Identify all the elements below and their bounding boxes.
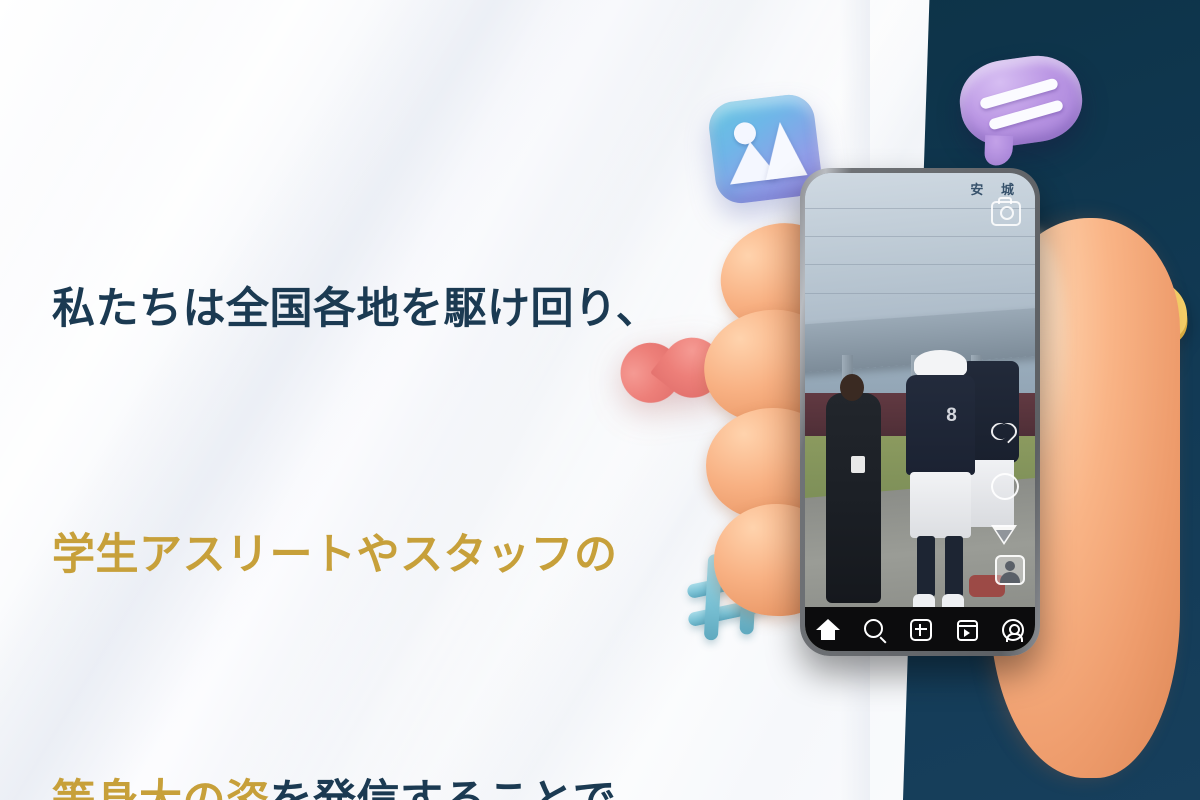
player-shirt [906, 375, 975, 475]
player-sock [917, 536, 935, 597]
headline-segment: を発信することで、 [270, 776, 659, 800]
like-heart-icon [991, 421, 1017, 445]
poster-canvas: 私たちは全国各地を駆け回り、 学生アスリートやスタッフの 等身大の姿を発信するこ… [0, 0, 1200, 800]
smartphone-mockup: 安 城 8 [800, 168, 1040, 656]
headline-segment: 私たちは全国各地を駆け回り、 [52, 284, 659, 334]
phone-screen[interactable]: 安 城 8 [805, 173, 1035, 651]
photo-icon-mountain-large [759, 119, 808, 180]
reels-icon [957, 620, 978, 641]
headline-segment: 学生アスリートやスタッフの [52, 530, 618, 580]
headline-line-3: 等身大の姿を発信することで、 [52, 760, 752, 800]
player-sock [945, 536, 963, 597]
plus-square-icon [910, 619, 932, 641]
instagram-bottom-nav [805, 607, 1035, 651]
headline-copy: 私たちは全国各地を駆け回り、 学生アスリートやスタッフの 等身大の姿を発信するこ… [52, 104, 752, 800]
staff-head [840, 374, 864, 401]
comment-button[interactable] [991, 473, 1021, 503]
home-icon [816, 619, 840, 630]
camera-icon[interactable] [991, 201, 1021, 226]
tagged-avatar[interactable] [995, 555, 1025, 585]
nav-profile[interactable] [1000, 617, 1024, 641]
venue-sign-text: 安 城 [970, 179, 1021, 198]
player-pants [910, 472, 971, 539]
nav-reels[interactable] [954, 617, 978, 641]
headline-segment: 等身大の姿 [52, 776, 270, 800]
send-icon [991, 525, 1017, 545]
nav-create[interactable] [908, 617, 932, 641]
staff-id-badge [851, 456, 865, 473]
comment-icon [991, 473, 1019, 500]
profile-icon [1002, 619, 1024, 641]
story-action-rail [991, 421, 1025, 577]
player-jersey-number: 8 [946, 405, 957, 427]
headline-line-1: 私たちは全国各地を駆け回り、 [52, 268, 752, 350]
headline-line-2: 学生アスリートやスタッフの [52, 514, 752, 596]
share-button[interactable] [991, 525, 1021, 555]
player-cap [914, 350, 966, 378]
nav-home[interactable] [816, 617, 840, 641]
like-button[interactable] [991, 421, 1021, 451]
search-icon [864, 619, 883, 638]
photo-player-primary: 8 [906, 350, 975, 627]
photo-staff-person [826, 393, 881, 603]
nav-search[interactable] [862, 617, 886, 641]
